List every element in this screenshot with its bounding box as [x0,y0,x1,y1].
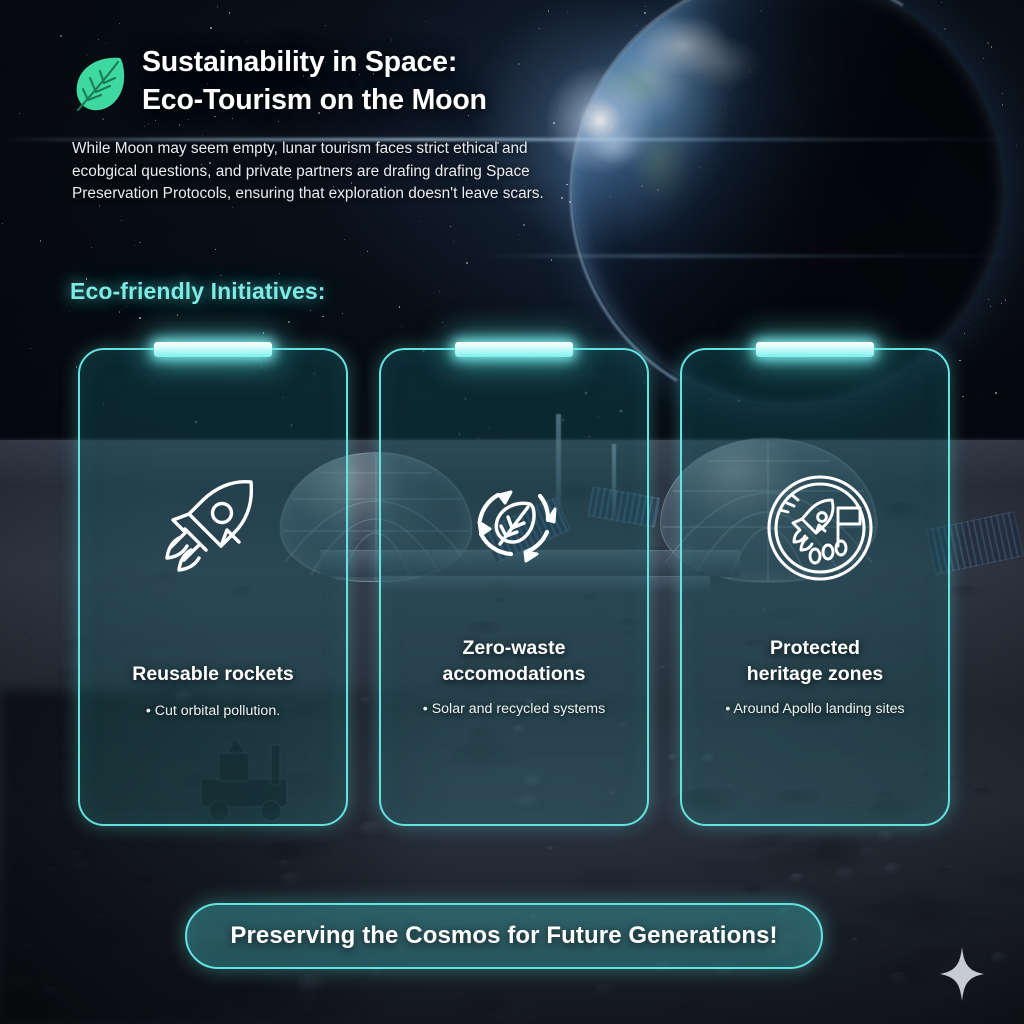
initiative-card-zero-waste[interactable]: Zero-waste accomodations • Solar and rec… [379,348,649,826]
card-title-line-1: Protected [770,637,860,659]
infographic-canvas: Sustainability in Space: Eco-Tourism on … [0,0,1024,1024]
four-point-sparkle-icon [938,946,986,1002]
card-top-glow-bar [455,342,573,357]
banner-text: Preserving the Cosmos for Future Generat… [230,922,777,950]
initiative-card-heritage-zones[interactable]: Protected heritage zones • Around Apollo… [680,348,950,826]
card-bullet: • Around Apollo landing sites [692,700,938,720]
recycle-leaf-icon [454,462,574,582]
rocket-icon [153,462,273,582]
card-title-line-2: heritage zones [747,663,884,685]
card-title-line-1: Zero-waste [463,637,566,659]
card-top-glow-bar [154,342,272,357]
card-top-glow-bar [756,342,874,357]
card-title: Protected heritage zones [694,636,936,688]
card-title-line-2: accomodations [442,663,585,685]
card-bullet: • Cut orbital pollution. [90,702,336,722]
card-bullet: • Solar and recycled systems [391,700,637,720]
initiatives-card-group: Reusable rockets • Cut orbital pollution… [0,0,1024,1024]
initiative-card-reusable-rockets[interactable]: Reusable rockets • Cut orbital pollution… [78,348,348,826]
card-title: Reusable rockets [92,662,334,688]
call-to-action-banner[interactable]: Preserving the Cosmos for Future Generat… [185,903,823,969]
heritage-badge-icon [760,468,870,578]
card-title: Zero-waste accomodations [393,636,635,688]
